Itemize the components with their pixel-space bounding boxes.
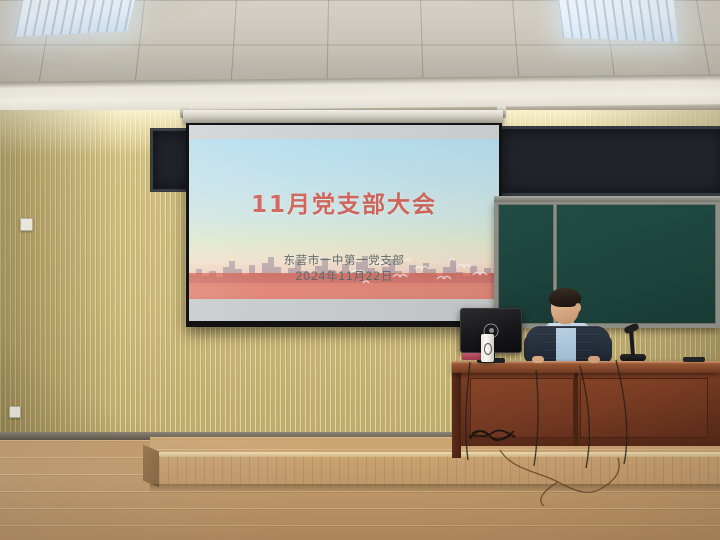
projection-screen[interactable]: 11月党支部大会 东营市一中第一党支部 2024年11月22日 bbox=[186, 123, 502, 327]
podium-panel-divider bbox=[574, 372, 578, 446]
dark-banner-board bbox=[487, 126, 720, 196]
thermos-bottle[interactable] bbox=[481, 334, 494, 362]
slide-letterbox-bottom bbox=[189, 299, 499, 321]
screen-surface: 11月党支部大会 东营市一中第一党支部 2024年11月22日 bbox=[189, 125, 499, 321]
secondary-microphone-base[interactable] bbox=[683, 357, 705, 362]
person-hand-left bbox=[532, 356, 544, 363]
podium-front-panel-right bbox=[580, 378, 708, 438]
wall-shadow-left bbox=[0, 110, 120, 440]
wall-power-outlet[interactable] bbox=[9, 406, 21, 418]
slide-date: 2024年11月22日 bbox=[189, 268, 499, 284]
photo-scene: 11月党支部大会 东营市一中第一党支部 2024年11月22日 bbox=[0, 0, 720, 540]
chalkboard-panel-left bbox=[498, 204, 554, 324]
ceiling-panel-light-left bbox=[14, 0, 138, 37]
presentation-slide: 11月党支部大会 东营市一中第一党支部 2024年11月22日 bbox=[189, 139, 499, 299]
screen-roller-housing[interactable] bbox=[183, 110, 503, 123]
chalkboard-top-rail bbox=[494, 196, 720, 202]
slide-title: 11月党支部大会 bbox=[189, 185, 499, 219]
stage-shadow bbox=[150, 484, 720, 493]
slide-letterbox-top bbox=[189, 125, 499, 139]
ceiling-panel-light-right bbox=[557, 0, 678, 42]
person-vest-opening bbox=[556, 328, 576, 364]
person-hand-right bbox=[588, 356, 600, 363]
light-switch-plate[interactable] bbox=[20, 218, 33, 231]
chalkboard bbox=[494, 200, 720, 328]
person-ear bbox=[575, 303, 581, 312]
stage-side-face bbox=[143, 444, 159, 487]
cable-bundle-on-floor bbox=[468, 425, 516, 443]
slide-subtitle: 东营市一中第一党支部 bbox=[189, 252, 499, 269]
stage-front-face bbox=[150, 456, 720, 486]
podium-left-leg bbox=[452, 372, 461, 458]
